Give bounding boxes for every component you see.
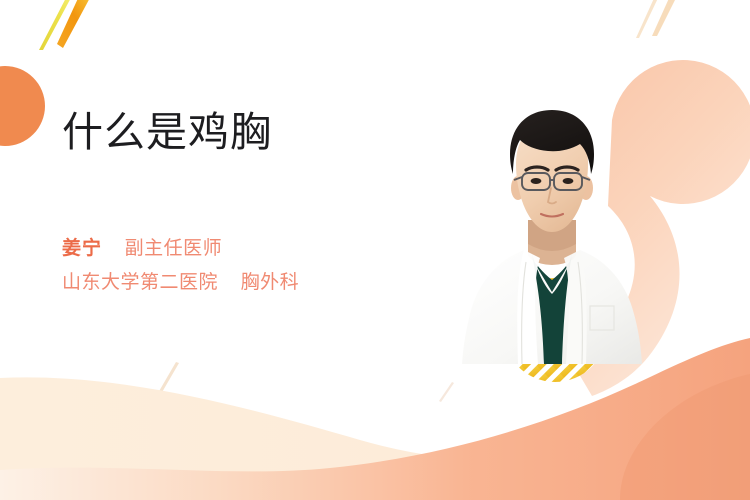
doctor-name-and-rank: 姜宁 副主任医师 — [62, 232, 442, 266]
doctor-hospital: 山东大学第二医院 — [62, 272, 218, 293]
doctor-department: 胸外科 — [241, 272, 300, 293]
doctor-name: 姜宁 — [62, 238, 102, 259]
doctor-hospital-and-department: 山东大学第二医院 胸外科 — [62, 266, 442, 300]
doctor-portrait-illustration — [462, 92, 642, 364]
doctor-credentials: 姜宁 副主任医师 山东大学第二医院 胸外科 — [62, 232, 442, 300]
doctor-rank: 副主任医师 — [125, 238, 223, 259]
text-block: 什么是鸡胸 姜宁 副主任医师 山东大学第二医院 胸外科 — [62, 108, 442, 300]
page-title: 什么是鸡胸 — [62, 108, 442, 156]
medical-video-cover-card: 什么是鸡胸 姜宁 副主任医师 山东大学第二医院 胸外科 — [0, 0, 750, 500]
doctor-portrait — [462, 92, 642, 364]
